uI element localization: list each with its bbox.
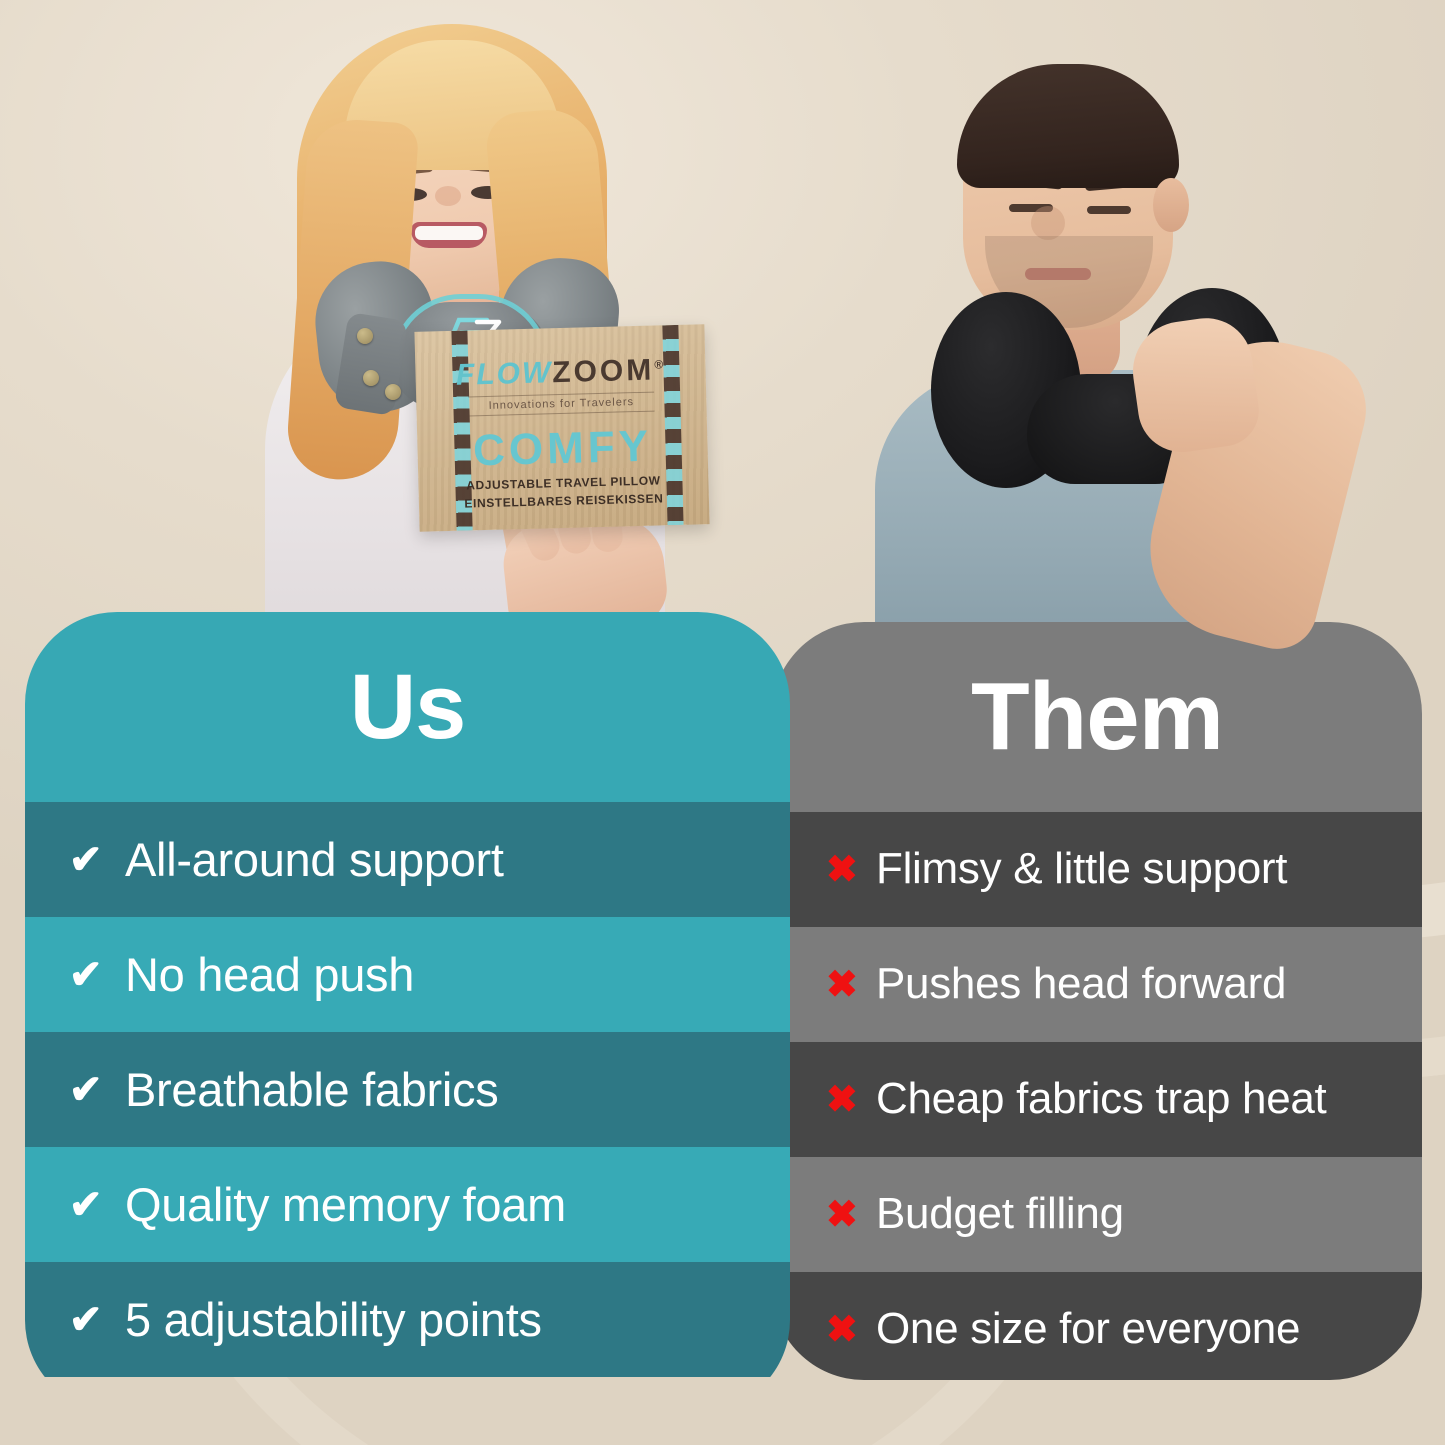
- box-product-name: COMFY: [417, 420, 708, 478]
- us-row-3: ✔ Breathable fabrics: [25, 1032, 790, 1147]
- us-row-1: ✔ All-around support: [25, 802, 790, 917]
- product-comparison-image: FLOWZOOM® Innovations for Travelers COMF…: [0, 0, 1445, 1445]
- them-row-5: ✖ One size for everyone: [772, 1272, 1422, 1380]
- check-icon: ✔: [69, 1185, 125, 1225]
- them-rows: ✖ Flimsy & little support ✖ Pushes head …: [772, 812, 1422, 1380]
- box-brand: FLOWZOOM®: [415, 352, 706, 394]
- box-tagline: Innovations for Travelers: [468, 392, 654, 417]
- them-row-4: ✖ Budget filling: [772, 1157, 1422, 1272]
- check-icon: ✔: [69, 840, 125, 880]
- check-icon: ✔: [69, 1070, 125, 1110]
- box-brand-zoom: ZOOM: [552, 354, 655, 390]
- man-ear: [1153, 178, 1189, 232]
- them-title: Them: [971, 669, 1223, 765]
- us-panel: Us ✔ All-around support ✔ No head push ✔…: [25, 612, 790, 1412]
- pillow-snap-3: [385, 384, 401, 400]
- man-photo: [835, 20, 1435, 660]
- man-hair: [957, 64, 1179, 188]
- them-row-label: One size for everyone: [876, 1306, 1300, 1352]
- cross-icon: ✖: [826, 1081, 876, 1119]
- product-box: FLOWZOOM® Innovations for Travelers COMF…: [414, 324, 709, 532]
- cross-icon: ✖: [826, 1311, 876, 1349]
- check-icon: ✔: [69, 1300, 125, 1340]
- us-row-2: ✔ No head push: [25, 917, 790, 1032]
- check-icon: ✔: [69, 955, 125, 995]
- pillow-snap-2: [363, 370, 379, 386]
- us-row-label: Quality memory foam: [125, 1180, 566, 1229]
- them-row-label: Budget filling: [876, 1191, 1124, 1237]
- man-mouth: [1025, 268, 1091, 280]
- photo-zone: FLOWZOOM® Innovations for Travelers COMF…: [0, 0, 1445, 700]
- cross-icon: ✖: [826, 966, 876, 1004]
- box-brand-flow: FLOW: [456, 356, 553, 392]
- them-row-1: ✖ Flimsy & little support: [772, 812, 1422, 927]
- them-row-label: Cheap fabrics trap heat: [876, 1076, 1326, 1122]
- man-nose: [1031, 206, 1065, 240]
- us-row-label: Breathable fabrics: [125, 1065, 498, 1114]
- us-row-label: 5 adjustability points: [125, 1295, 542, 1344]
- man-eye-right-closed: [1087, 206, 1131, 214]
- us-row-4: ✔ Quality memory foam: [25, 1147, 790, 1262]
- us-rows: ✔ All-around support ✔ No head push ✔ Br…: [25, 802, 790, 1377]
- them-row-3: ✖ Cheap fabrics trap heat: [772, 1042, 1422, 1157]
- us-title: Us: [350, 661, 466, 753]
- woman-nose: [435, 186, 461, 206]
- comparison-section: Them ✖ Flimsy & little support ✖ Pushes …: [0, 600, 1445, 1445]
- woman-smile: [411, 222, 487, 248]
- cross-icon: ✖: [826, 1196, 876, 1234]
- pillow-snap-1: [357, 328, 373, 344]
- cross-icon: ✖: [826, 851, 876, 889]
- them-row-label: Flimsy & little support: [876, 846, 1287, 892]
- them-row-label: Pushes head forward: [876, 961, 1286, 1007]
- us-row-label: All-around support: [125, 835, 504, 884]
- them-row-2: ✖ Pushes head forward: [772, 927, 1422, 1042]
- them-header: Them: [772, 622, 1422, 812]
- us-row-5: ✔ 5 adjustability points: [25, 1262, 790, 1377]
- us-header: Us: [25, 612, 790, 802]
- box-brand-registered: ®: [654, 357, 665, 371]
- them-panel: Them ✖ Flimsy & little support ✖ Pushes …: [772, 622, 1422, 1380]
- woman-teeth: [415, 226, 483, 240]
- us-row-label: No head push: [125, 950, 414, 999]
